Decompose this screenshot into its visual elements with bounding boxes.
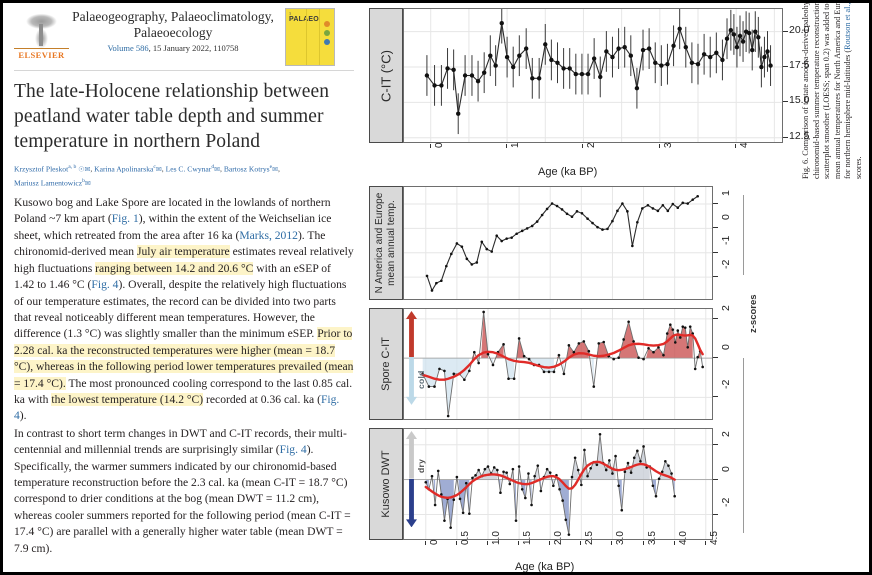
xtick-mark-dwt-5: [580, 541, 581, 545]
ytick-spore-2: 2: [720, 305, 732, 311]
article-body: Kusowo bog and Lake Spore are located in…: [6, 189, 362, 557]
ytick-dwt-1: 0: [720, 466, 732, 472]
article-text-column: ELSEVIER Palaeogeography, Palaeoclimatol…: [6, 6, 362, 575]
figure-column: C-IT (°C) Age (ka BP) N America and Euro…: [363, 3, 872, 575]
xtick-mark-top-1: [506, 144, 507, 148]
xtick-mark-dwt-4: [549, 541, 550, 545]
ytick-mark-top-2: [783, 66, 788, 67]
xtick-mark-top-0: [430, 144, 431, 148]
panel-label-spore: Spore C-IT: [380, 337, 392, 391]
panel-label-cit: C-IT (°C): [379, 50, 394, 102]
dry-label: dry: [416, 458, 426, 472]
p1-seg-h: recorded at 0.36 cal. ka (: [203, 393, 321, 406]
paragraph-2: In contrast to short term changes in DWT…: [14, 426, 354, 557]
author-5-email-icon[interactable]: ✉: [85, 179, 91, 187]
n-america-europe-panel-svg: [404, 187, 712, 299]
xtick-dwt-0: 0: [429, 539, 440, 545]
xtick-dwt-2: 1.0: [491, 531, 502, 545]
ytick-spore-1: 0: [720, 344, 732, 350]
xtick-dwt-9: 4.5: [709, 531, 720, 545]
ytick-mark-dwt-1: [713, 479, 718, 480]
ytick-nae-1: -1: [720, 235, 732, 244]
ytick-mark-top-1: [783, 101, 788, 102]
xaxis-label-top: Age (ka BP): [538, 166, 597, 178]
ytick-mark-nae-3: [713, 203, 718, 204]
ytick-nae-0: -2: [720, 260, 732, 269]
plot-spore: [403, 308, 713, 420]
author-list: Krzysztof Pleskota, b ☉✉, Karina Apolina…: [6, 154, 362, 189]
highlight-lowest-temp: the lowest temperature (14.2 °C): [51, 393, 203, 406]
xtick-mark-dwt-1: [456, 541, 457, 545]
cover-dot-blue: [324, 39, 330, 45]
xtick-dwt-4: 2.0: [553, 531, 564, 545]
xaxis-label-bottom: Age (ka BP): [515, 561, 574, 573]
xtick-dwt-1: 0.5: [460, 531, 471, 545]
cover-dot-orange: [324, 21, 330, 27]
panel-strip-nae: N America and Europe mean annual temp.: [369, 186, 403, 300]
volume-link[interactable]: Volume 586: [107, 43, 148, 53]
zscore-bracket-bottom: [743, 358, 744, 533]
xtick-top-0: 0: [434, 142, 445, 148]
ytick-mark-nae-1: [713, 252, 718, 253]
figure-caption: Fig. 6. Comparison of testate amoeba-der…: [801, 3, 869, 179]
caption-seg-1: Fig. 6. Comparison of testate amoeba-der…: [801, 3, 842, 179]
ytick-mark-top-0: [783, 137, 788, 138]
ytick-dwt-0: -2: [720, 497, 732, 506]
author-1-affil: a, b: [68, 164, 76, 170]
paragraph-1: Kusowo bog and Lake Spore are located in…: [14, 195, 354, 425]
author-4[interactable]: Bartosz Kotrys: [224, 165, 270, 174]
ytick-dwt-2: 2: [720, 431, 732, 437]
xtick-top-4: 4: [739, 142, 750, 148]
journal-volume-line: Volume 586, 15 January 2022, 110758: [68, 43, 278, 53]
ytick-mark-top-3: [783, 31, 788, 32]
highlight-july-air-temp: July air temperature: [137, 245, 230, 258]
journal-title: Palaeogeography, Palaeoclimatology, Pala…: [68, 9, 278, 41]
volume-rest: , 15 January 2022, 110758: [149, 43, 239, 53]
caption-ref-routson[interactable]: Routson et al., 2019: [843, 3, 852, 50]
fig1-link[interactable]: Fig. 1: [112, 212, 139, 225]
ytick-mark-spore-2: [713, 318, 718, 319]
p2-seg-b: ). Specifically, the warmer summers indi…: [14, 443, 351, 554]
p1-seg-i: ).: [20, 409, 27, 422]
ytick-mark-spore-0: [713, 396, 718, 397]
xtick-mark-dwt-3: [518, 541, 519, 545]
elsevier-logo: ELSEVIER: [14, 10, 69, 60]
cover-stripe-1: [306, 9, 307, 65]
cover-top-mark: 3: [286, 9, 334, 16]
plot-nae: [403, 186, 713, 300]
xtick-mark-top-3: [659, 144, 660, 148]
top-cit-panel-svg: [404, 9, 782, 142]
fig4-link-c[interactable]: Fig. 4: [280, 443, 307, 456]
xtick-mark-dwt-8: [674, 541, 675, 545]
cover-icon-group: [324, 21, 330, 48]
xtick-dwt-8: 4.0: [678, 531, 689, 545]
ytick-mark-dwt-0: [713, 514, 718, 515]
highlight-range: ranging between 14.2 and 20.6 °C: [95, 262, 253, 275]
ytick-mark-nae-0: [713, 276, 718, 277]
xtick-mark-dwt-7: [643, 541, 644, 545]
ytick-mark-nae-2: [713, 227, 718, 228]
elsevier-wordmark: ELSEVIER: [14, 50, 69, 60]
panel-label-nae: N America and Europe mean annual temp.: [374, 188, 398, 298]
fig4-link-a[interactable]: Fig. 4: [91, 278, 118, 291]
zscore-bracket-top: [743, 195, 744, 275]
cover-stripe-2: [319, 9, 320, 65]
plot-cit: [403, 8, 783, 143]
xtick-dwt-5: 2.5: [584, 531, 595, 545]
xtick-mark-top-2: [582, 144, 583, 148]
kusowo-dwt-panel-svg: [404, 429, 712, 539]
author-2[interactable]: Karina Apolinarska: [94, 165, 153, 174]
xtick-dwt-6: 3.0: [615, 531, 626, 545]
ytick-nae-2: 0: [720, 215, 732, 221]
warm-label: warm: [416, 330, 426, 353]
xtick-top-1: 1: [510, 142, 521, 148]
panel-label-dwt: Kusowo DWT: [380, 450, 392, 517]
xtick-mark-dwt-0: [425, 541, 426, 545]
xtick-top-3: 3: [663, 142, 674, 148]
journal-cover-thumbnail[interactable]: 3 PALAEO: [285, 8, 335, 66]
wet-label: wet: [416, 492, 426, 507]
spore-cit-panel-svg: [404, 309, 712, 419]
article-title: The late-Holocene relationship between p…: [6, 71, 362, 154]
author-1[interactable]: Krzysztof Pleskot: [14, 165, 68, 174]
plot-dwt: [403, 428, 713, 540]
xtick-mark-top-4: [735, 144, 736, 148]
ytick-spore-0: -2: [720, 380, 732, 389]
marks-2012-link[interactable]: Marks, 2012: [239, 229, 298, 242]
cold-label: cold: [416, 370, 426, 389]
xtick-mark-dwt-6: [611, 541, 612, 545]
xtick-dwt-3: 1.5: [522, 531, 533, 545]
figure-6: C-IT (°C) Age (ka BP) N America and Euro…: [363, 3, 872, 575]
author-3[interactable]: Les C. Cwynar: [166, 165, 212, 174]
author-5[interactable]: Mariusz Lamentowicz: [14, 178, 82, 187]
elsevier-tree-icon: [14, 10, 69, 49]
zscore-label: z-scores: [748, 294, 759, 333]
ytick-mark-spore-1: [713, 357, 718, 358]
xtick-mark-dwt-9: [705, 541, 706, 545]
ytick-mark-dwt-2: [713, 444, 718, 445]
xtick-dwt-7: 3.5: [647, 531, 658, 545]
xtick-top-2: 2: [586, 142, 597, 148]
ytick-nae-3: 1: [720, 190, 732, 196]
journal-header: ELSEVIER Palaeogeography, Palaeoclimatol…: [6, 6, 362, 68]
xtick-mark-dwt-2: [487, 541, 488, 545]
panel-strip-cit: C-IT (°C): [369, 8, 403, 143]
panel-strip-dwt: Kusowo DWT: [369, 428, 403, 540]
panel-strip-spore: Spore C-IT: [369, 308, 403, 420]
cover-dot-green: [324, 30, 330, 36]
screenshot-page: ELSEVIER Palaeogeography, Palaeoclimatol…: [0, 0, 872, 575]
